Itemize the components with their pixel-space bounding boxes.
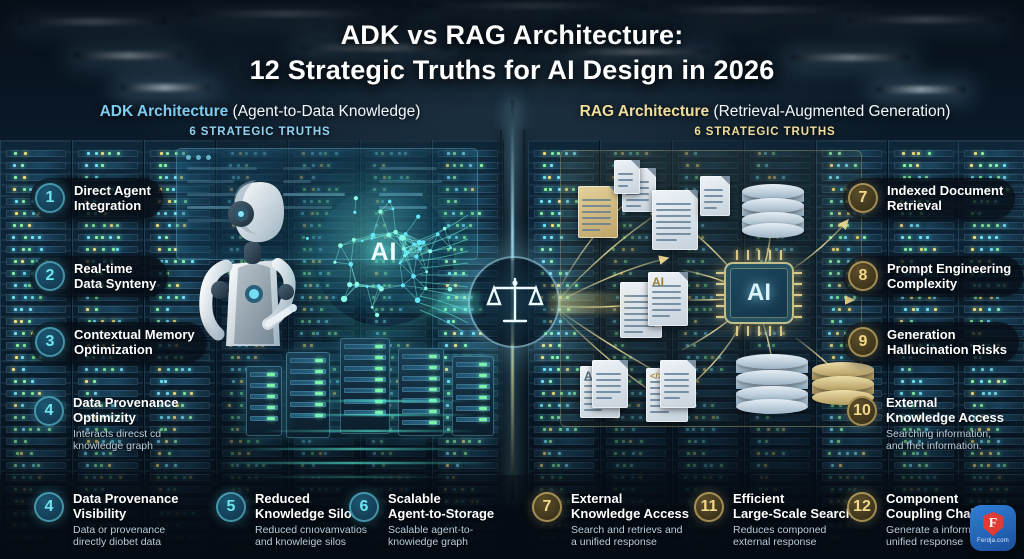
rack-led [14,332,17,335]
server-unit-slot [290,391,326,396]
truth-item[interactable]: 11Efficient Large-Scale SearchReduces co… [690,486,866,554]
rack-led [454,344,457,347]
document-text-line [664,379,689,381]
truth-text: Indexed Document Retrieval [887,183,1003,214]
rack-blade [78,366,138,373]
rack-led [182,260,185,263]
rack-blade [894,366,954,373]
rack-led [22,332,25,335]
document-text-line [582,223,611,225]
rack-led [23,176,26,179]
chip-pin [758,250,760,260]
infographic-canvas: AI AIA</> [0,0,1024,559]
rack-blade [894,234,954,241]
rack-led [908,236,911,239]
document-text-line [656,227,691,229]
truth-number-badge: 7 [848,183,878,213]
rag-subheading: 6 STRATEGIC TRUTHS [540,126,990,138]
rack-led [916,308,919,311]
vector-db-top [742,182,804,238]
truth-title: Contextual Memory Optimization [74,327,195,358]
rack-led [904,248,907,251]
truth-item[interactable]: 7External Knowledge AccessSearch and ret… [528,486,701,554]
rack-led [990,368,993,371]
rack-blade [894,222,954,229]
truth-number-badge: 8 [848,261,878,291]
server-unit-slot [290,380,326,385]
truth-item[interactable]: 7Indexed Document Retrieval [843,178,1015,219]
rack-led [156,308,159,311]
rack-led [103,368,106,371]
rack-led [16,344,19,347]
truth-item[interactable]: 4Data Provenance OptimizityInteracts dir… [30,390,191,458]
truth-text: Component Coupling ChallGenerate a infor… [886,491,978,549]
rack-blade [6,222,66,229]
chip-pin [747,250,749,260]
rack-led [980,248,983,251]
chip-pin [769,250,771,260]
rack-led [31,236,34,239]
rack-led [28,320,31,323]
rack-led [15,200,18,203]
document-text-line [656,209,691,211]
rack-led [543,176,546,179]
rack-led [166,188,169,191]
rack-led [472,332,475,335]
server-rack-unit [340,338,390,434]
rack-led [20,308,23,311]
truth-item[interactable]: 9Generation Hallucination Risks [843,322,1019,363]
document-text-line [582,217,611,219]
chip-pin [716,316,724,318]
truth-text: Data Provenance VisibilityData or proven… [73,491,179,549]
rack-led [13,164,16,167]
server-unit-slot [344,377,386,382]
truth-item[interactable]: 6Scalable Agent-to-StorageScalable agent… [345,486,506,554]
truth-number-badge: 6 [349,492,379,522]
rack-led [989,164,992,167]
document-text-line [664,385,689,387]
server-rack-unit [452,356,494,436]
truth-text: Efficient Large-Scale SearchReduces comp… [733,491,854,549]
title-line-2: 12 Strategic Truths for AI Design in 202… [0,53,1024,88]
rack-led [333,368,336,371]
server-unit-slot [402,354,440,359]
rack-led [101,236,104,239]
rack-led [996,248,999,251]
document-text-line [618,173,633,175]
rack-led [166,308,169,311]
rack-blade [150,366,210,373]
truth-item[interactable]: 3Contextual Memory Optimization [30,322,207,363]
truth-number-badge: 4 [34,492,64,522]
server-unit-slot [456,417,490,422]
rack-led [541,248,544,251]
rack-led [970,164,973,167]
rag-energy-beam [548,292,638,314]
document-text-line [596,385,621,387]
adk-heading-rest: (Agent-to-Data Knowledge) [228,103,420,120]
document-text-line [596,373,621,375]
rack-led [541,356,544,359]
server-unit-slot [344,355,386,360]
rack-led [86,308,89,311]
server-rack-unit [286,352,330,438]
truth-item[interactable]: 10External Knowledge AccessSearching inf… [843,390,1016,458]
truth-number-badge: 7 [532,492,562,522]
rack-led [973,224,976,227]
truth-title: Scalable Agent-to-Storage [388,491,494,522]
document-text-line [582,205,611,207]
truth-text: Data Provenance OptimizityInteracts dire… [73,395,179,453]
rack-led [22,248,25,251]
rack-led [971,248,974,251]
server-unit-slot [402,376,440,381]
document-text-line [704,207,717,209]
truth-number-badge: 4 [34,396,64,426]
rack-led [254,356,257,359]
rack-led [444,356,447,359]
rack-led [164,212,167,215]
document-text-line [618,179,633,181]
document-tag: AI [652,275,664,289]
rack-led [176,284,179,287]
server-unit-slot [290,358,326,363]
chip-pin [794,283,802,285]
rack-led [32,212,35,215]
rack-led [934,308,937,311]
rack-led [158,368,161,371]
rack-led [85,368,88,371]
rack-led [912,308,915,311]
rack-led [168,284,171,287]
rack-led [20,320,23,323]
rag-chip-label: AI [724,262,794,324]
rack-led [21,356,24,359]
document-text-line [704,195,723,197]
rack-led [168,200,171,203]
rack-led [159,164,162,167]
rack-led [28,224,31,227]
rack-led [445,368,448,371]
rack-led [181,368,184,371]
rack-led [111,368,114,371]
truth-title: Data Provenance Optimizity [73,395,179,426]
chip-pin [794,294,802,296]
document-text-line [626,199,649,201]
rack-led [916,224,919,227]
rack-blade [78,306,138,313]
truth-text: Real-time Data Synteny [74,261,156,292]
chip-pin [780,250,782,260]
chip-pin [769,326,771,336]
rack-led [168,224,171,227]
server-unit-slot [344,344,386,349]
document-text-line [656,233,691,235]
rack-blade [6,366,66,373]
document-icon [660,360,696,408]
rag-heading-bold: RAG Architecture [580,103,709,120]
truth-number-badge: 1 [35,183,65,213]
rack-led [908,368,911,371]
rack-led [109,236,112,239]
rack-led [120,368,123,371]
truth-title: External Knowledge Access [886,395,1004,426]
document-text-line [652,315,670,317]
rack-led [980,236,983,239]
watermark-badge[interactable]: F Ferdja.com [970,505,1016,551]
document-text-line [652,297,681,299]
truth-description: Data or provenance directly diobet data [73,524,179,550]
rack-blade [78,222,138,229]
server-rack-unit [398,348,444,436]
truth-title: Direct Agent Integration [74,183,151,214]
truth-item[interactable]: 8Prompt Engineering Complexity [843,256,1023,297]
rack-led [13,224,16,227]
data-flow-line [286,414,476,416]
rack-led [28,248,31,251]
rack-led [174,260,177,263]
document-icon [592,360,628,408]
truth-title: Real-time Data Synteny [74,261,156,292]
truth-description: Search and retrievs and a unified respon… [571,524,689,550]
rack-led [158,236,161,239]
rack-led [973,236,976,239]
document-text-line [582,211,611,213]
rack-led [901,368,904,371]
adk-section-heading: ADK Architecture (Agent-to-Data Knowledg… [40,103,480,138]
rack-blade [964,234,1024,241]
rack-led [1003,176,1006,179]
rack-led [1003,224,1006,227]
document-text-line [656,221,691,223]
rack-led [110,224,113,227]
server-unit-slot [344,366,386,371]
rack-led [167,368,170,371]
rack-led [28,284,31,287]
document-text-line [652,303,681,305]
rack-blade [964,222,1024,229]
chip-pin [716,272,724,274]
document-text-line [582,229,600,231]
rack-blade [894,306,954,313]
rack-led [14,308,17,311]
truth-number-badge: 10 [847,396,877,426]
rack-blade [6,234,66,241]
document-text-line [596,379,621,381]
rack-led [87,236,90,239]
rack-led [904,308,907,311]
balance-scales-icon [468,256,560,348]
rack-led [453,332,456,335]
rack-led [31,296,34,299]
document-text-line [664,397,680,399]
rack-led [444,332,447,335]
rack-led [116,224,119,227]
rack-led [24,284,27,287]
page-title: ADK vs RAG Architecture: 12 Strategic Tr… [0,18,1024,87]
rack-blade [964,366,1024,373]
rack-led [14,260,17,263]
rack-blade [78,234,138,241]
document-icon [614,160,640,194]
truth-item[interactable]: 4Data Provenance VisibilityData or prove… [30,486,191,554]
truth-description: Interacts direcst cd knowledge graph [73,428,179,454]
document-text-line [664,391,689,393]
server-unit-slot [344,388,386,393]
data-flow-line [214,462,494,464]
data-flow-line [300,400,470,402]
truth-title: External Knowledge Access [571,491,689,522]
rack-led [391,356,394,359]
rack-led [397,344,400,347]
rack-led [102,248,105,251]
truth-text: Contextual Memory Optimization [74,327,195,358]
rack-led [1003,164,1006,167]
hologram-code-line [379,167,437,170]
rack-led [159,176,162,179]
document-text-line [596,391,621,393]
truth-item[interactable]: 12Component Coupling ChallGenerate a inf… [843,486,990,554]
rack-blade [6,306,66,313]
rack-led [543,224,546,227]
rack-led [544,188,547,191]
document-text-line [704,189,723,191]
rack-led [903,164,906,167]
document-icon [700,176,730,216]
rack-led [334,332,337,335]
rack-blade [964,306,1024,313]
rack-blade [894,162,954,169]
rack-led [997,308,1000,311]
chip-pin [736,250,738,260]
chip-pin [736,326,738,336]
adk-subheading: 6 STRATEGIC TRUTHS [40,126,480,138]
data-flow-line [260,430,480,432]
rack-blade [894,246,954,253]
rack-led [117,236,120,239]
rack-led [979,308,982,311]
rack-led [445,344,448,347]
rack-led [93,248,96,251]
rack-led [86,248,89,251]
rack-led [159,296,162,299]
rack-blade [964,162,1024,169]
rack-led [231,368,234,371]
rack-led [12,272,15,275]
rack-led [981,368,984,371]
rack-led [175,368,178,371]
rack-led [406,344,409,347]
rack-led [112,248,115,251]
rack-blade [78,246,138,253]
rack-led [981,224,984,227]
rack-led [478,212,481,215]
rack-led [995,236,998,239]
rack-led [12,248,15,251]
rack-led [168,248,171,251]
rack-led [12,236,15,239]
server-unit-slot [250,372,278,377]
rack-led [920,248,923,251]
rack-led [972,368,975,371]
rack-led [988,308,991,311]
chip-pin [716,305,724,307]
chip-pin [716,294,724,296]
rack-led [175,296,178,299]
rag-ai-chip: AI [724,262,794,324]
rack-led [909,164,912,167]
rag-section-heading: RAG Architecture (Retrieval-Augmented Ge… [540,103,990,138]
rack-led [23,272,26,275]
truth-number-badge: 3 [35,327,65,357]
truth-title: Component Coupling Chall [886,491,978,522]
truth-description: Reduces componed external response [733,524,854,550]
rack-led [95,308,98,311]
rack-led [238,368,241,371]
rack-led [237,356,240,359]
server-unit-slot [290,369,326,374]
truth-title: Generation Hallucination Risks [887,327,1007,358]
rack-led [310,344,313,347]
title-line-1: ADK vs RAG Architecture: [0,18,1024,53]
server-unit-slot [456,406,490,411]
truth-item[interactable]: 1Direct Agent Integration [30,178,163,219]
document-text-line [664,373,689,375]
rack-led [95,368,98,371]
document-text-line [626,205,641,207]
rack-led [901,236,904,239]
rack-led [24,296,27,299]
rack-led [924,248,927,251]
adk-ai-label: AI [300,238,468,267]
truth-text: Prompt Engineering Complexity [887,261,1011,292]
truth-title: Data Provenance Visibility [73,491,179,522]
ferdja-shield-icon: F [983,512,1004,536]
truth-title: Indexed Document Retrieval [887,183,1003,214]
rack-led [543,368,546,371]
truth-item[interactable]: 2Real-time Data Synteny [30,256,168,297]
document-icon [578,186,618,238]
rack-led [990,248,993,251]
rack-led [231,356,234,359]
server-unit-slot [250,394,278,399]
rack-led [926,308,929,311]
server-unit-slot [456,362,490,367]
chip-pin [794,305,802,307]
document-text-line [584,409,602,411]
truth-description: Scalable agent-to- knowiedge graph [388,524,494,550]
truth-title: Prompt Engineering Complexity [887,261,1011,292]
rack-led [996,224,999,227]
rack-led [480,164,483,167]
document-text-line [650,411,669,413]
rack-led [376,332,379,335]
rack-led [316,332,319,335]
rack-led [40,248,43,251]
rack-led [926,236,929,239]
rack-led [165,236,168,239]
truth-text: Direct Agent Integration [74,183,151,214]
rack-led [182,296,185,299]
chip-pin [794,316,802,318]
rack-led [900,224,903,227]
rack-led [383,332,386,335]
chip-pin [758,326,760,336]
rack-blade [438,342,498,349]
rack-led [987,224,990,227]
data-flow-line [232,448,482,450]
